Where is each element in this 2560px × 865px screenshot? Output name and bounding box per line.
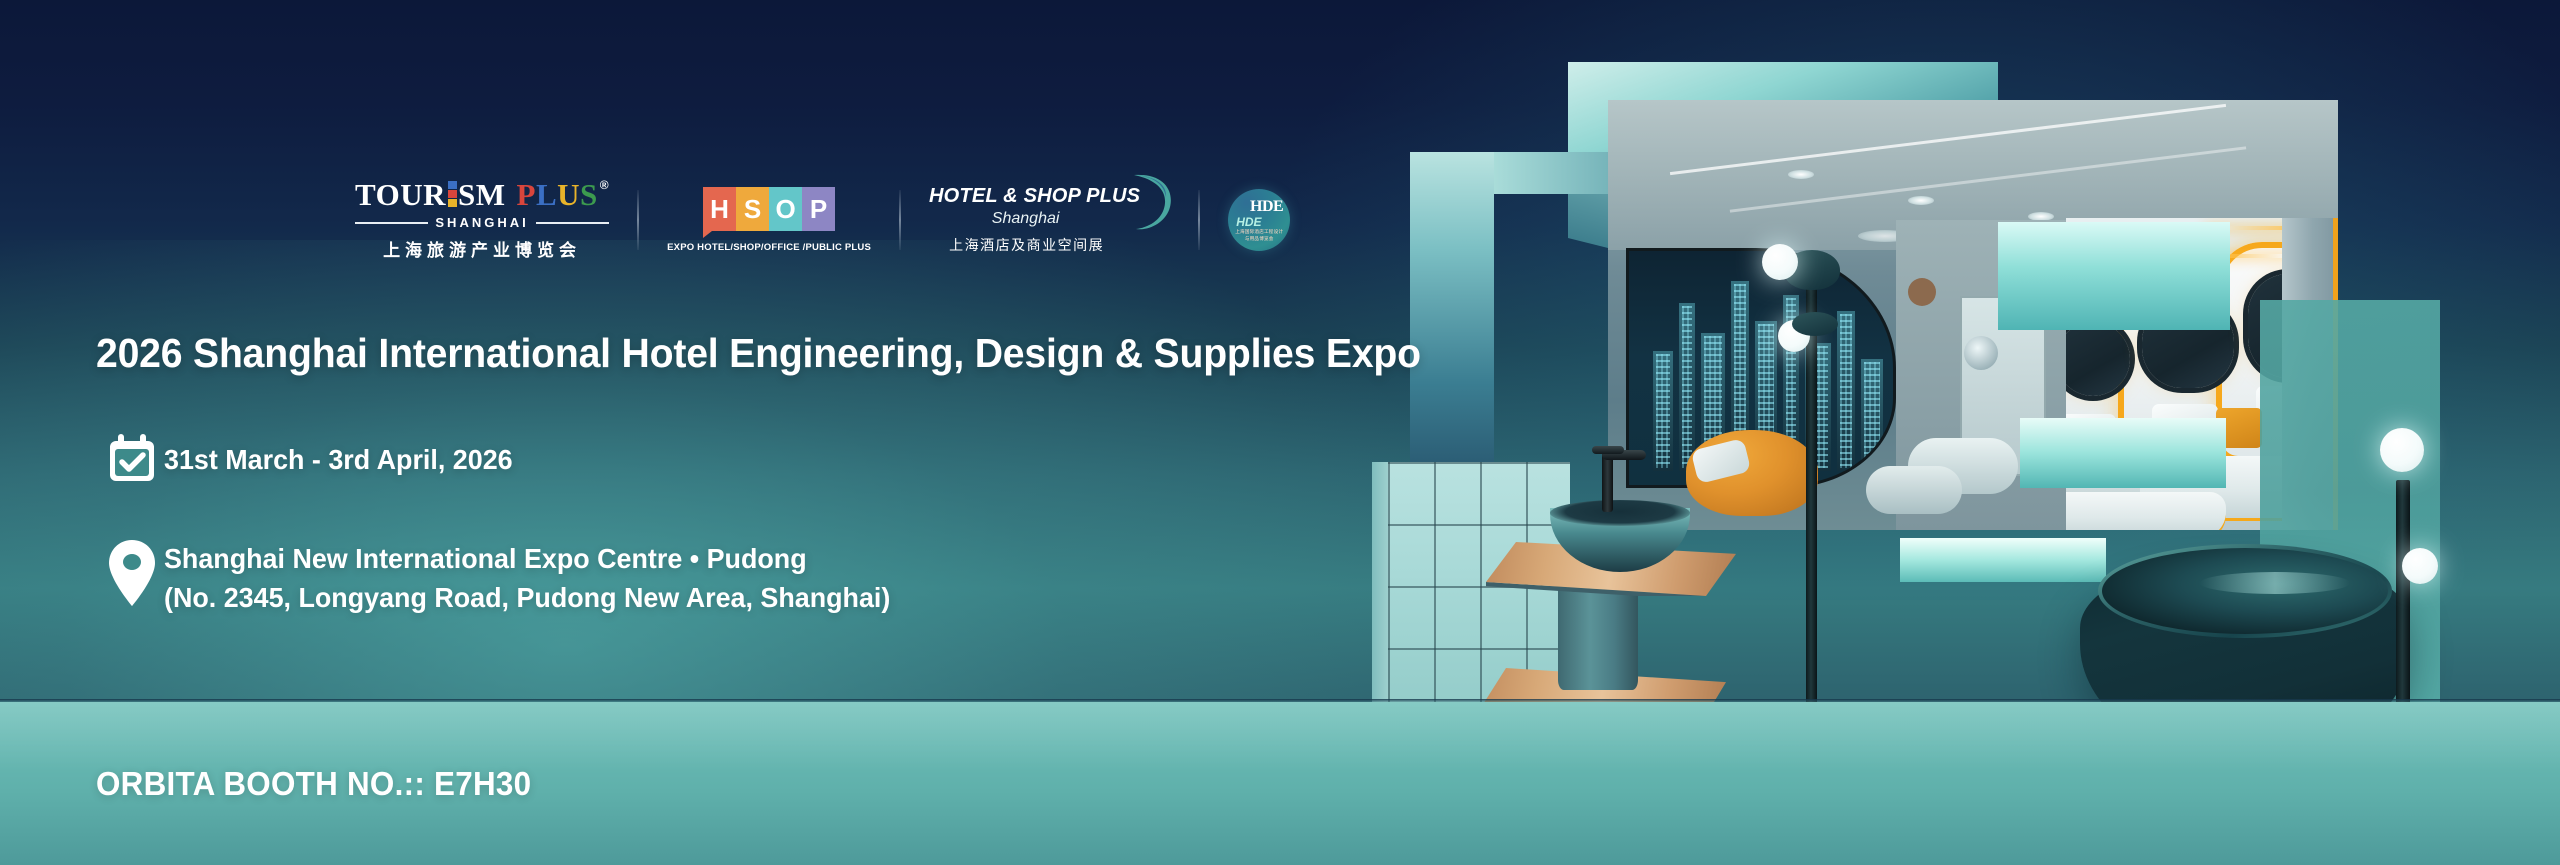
- logo-hsop[interactable]: H S O P EXPO HOTEL/SHOP/OFFICE /PUBLIC P…: [667, 187, 871, 253]
- tourism-city-text: SHANGHAI: [435, 215, 528, 230]
- hde-mark-text: HDE: [1250, 198, 1283, 216]
- swoosh-arc-icon: [1120, 171, 1176, 233]
- tourism-chinese-text: 上海旅游产业博览会: [383, 236, 581, 261]
- sink-basin-rim: [1550, 500, 1690, 526]
- venue-line-2: (No. 2345, Longyang Road, Pudong New Are…: [164, 579, 890, 618]
- left-column: [1410, 152, 1494, 472]
- hsop-tiles: H S O P: [703, 187, 835, 231]
- expo-banner: TOURSMPLUS® SHANGHAI 上海旅游产业博览会 H S O P E…: [0, 0, 2560, 865]
- event-date-row: 31st March - 3rd April, 2026: [100, 432, 527, 486]
- lounge-pod-2: [1866, 466, 1962, 514]
- mint-slab-lower: [1900, 538, 2106, 582]
- hsop-tile-o: O: [769, 187, 802, 231]
- tourism-sm-text: SM: [458, 179, 506, 210]
- hde-chinese-text: 上海国际酒店工程设计与用品博览会: [1234, 229, 1284, 242]
- logo-hotel-shop-plus[interactable]: HOTEL & SHOP PLUS Shanghai 上海酒店及商业空间展: [929, 185, 1170, 255]
- booth-number-text: ORBITA BOOTH NO.:: E7H30: [96, 765, 531, 803]
- event-date-text: 31st March - 3rd April, 2026: [164, 432, 513, 480]
- wall-mirror: [1964, 336, 1998, 370]
- tourism-plus-wordmark: TOURSMPLUS®: [355, 179, 609, 210]
- page-title: 2026 Shanghai International Hotel Engine…: [96, 330, 1421, 377]
- tourism-tour-text: TOUR: [355, 179, 446, 210]
- exhibition-logo-bar: TOURSMPLUS® SHANGHAI 上海旅游产业博览会 H S O P E…: [355, 180, 1290, 260]
- logo-hde[interactable]: HDE HDE 上海国际酒店工程设计与用品博览会: [1228, 189, 1290, 251]
- event-venue-row: Shanghai New International Expo Centre •…: [100, 538, 921, 617]
- sink-pedestal-column: [1558, 580, 1638, 690]
- mint-slab-upper: [1998, 222, 2230, 330]
- map-pin-icon: [100, 538, 164, 608]
- hsop-tile-s: S: [736, 187, 769, 231]
- logo-tourism-plus[interactable]: TOURSMPLUS® SHANGHAI 上海旅游产业博览会: [355, 179, 609, 261]
- hsp-city-text: Shanghai: [992, 210, 1060, 228]
- logo-divider-1: [637, 190, 639, 250]
- venue-line-1: Shanghai New International Expo Centre •…: [164, 540, 890, 579]
- hsop-tagline: EXPO HOTEL/SHOP/OFFICE /PUBLIC PLUS: [667, 242, 871, 253]
- mint-slab-middle: [2020, 418, 2226, 488]
- hsop-tile-p: P: [802, 187, 835, 231]
- faucet-handle: [1592, 446, 1624, 454]
- hde-abbrev-text: HDE: [1236, 215, 1261, 229]
- floor-sheen: [0, 702, 2560, 772]
- bathtub-highlight: [2200, 572, 2350, 594]
- logo-divider-3: [1198, 190, 1200, 250]
- registered-mark: ®: [600, 179, 609, 191]
- calendar-check-icon: [100, 432, 164, 486]
- tourism-city-rule: SHANGHAI: [355, 215, 609, 230]
- logo-divider-2: [899, 190, 901, 250]
- hsop-tile-h: H: [703, 187, 736, 231]
- hsp-main-text: HOTEL & SHOP PLUS: [929, 185, 1140, 208]
- hsp-chinese-text: 上海酒店及商业空间展: [949, 235, 1104, 255]
- event-venue-text: Shanghai New International Expo Centre •…: [164, 538, 890, 617]
- wall-clock: [1908, 278, 1936, 306]
